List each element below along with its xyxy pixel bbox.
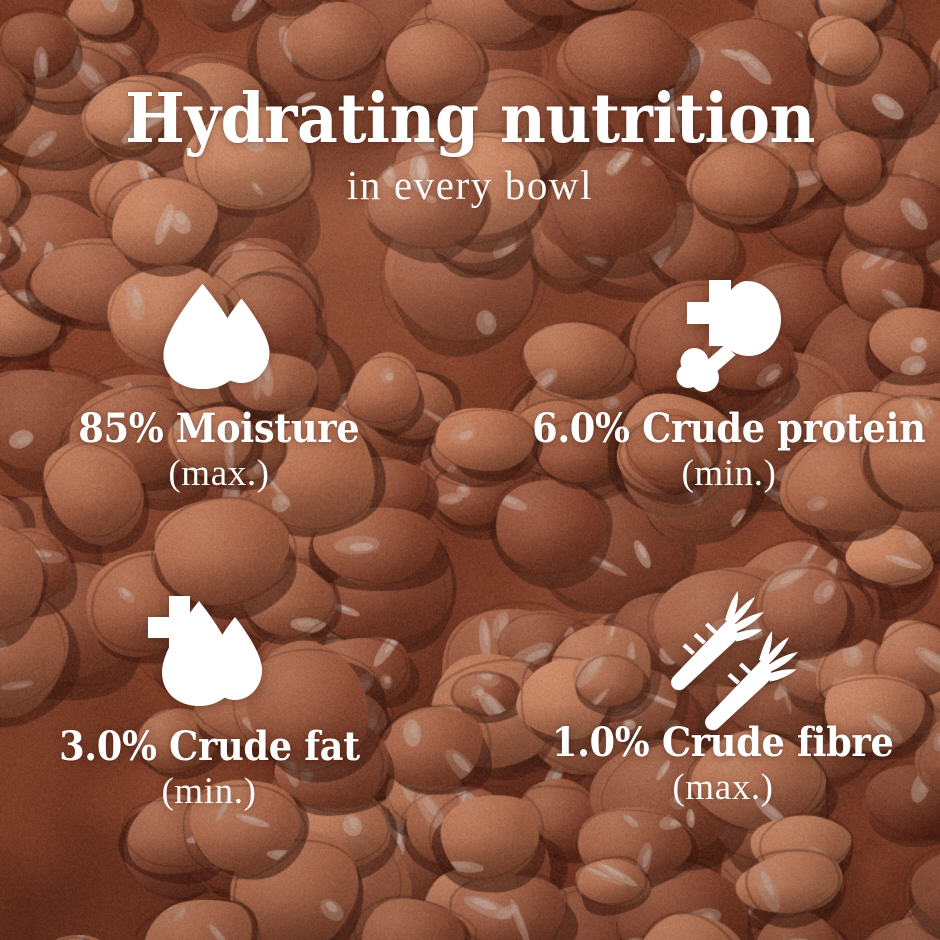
nutrition-infographic: Hydrating nutrition in every bowl [0, 0, 940, 940]
page-subtitle: in every bowl [0, 165, 940, 206]
stat-moisture: 85% Moisture (max.) [0, 270, 454, 570]
stat-qualifier-moisture: (max.) [168, 454, 269, 495]
stat-qualifier-crude-fibre: (max.) [672, 768, 773, 809]
headline-block: Hydrating nutrition in every bowl [0, 86, 940, 206]
stat-value-crude-protein: 6.0% Crude protein [532, 408, 925, 450]
stat-crude-fibre: 1.0% Crude fibre (max.) [488, 584, 940, 884]
page-title: Hydrating nutrition [33, 86, 907, 153]
water-drops-icon [161, 274, 277, 394]
stat-value-crude-fibre: 1.0% Crude fibre [552, 722, 894, 764]
infographic-content: Hydrating nutrition in every bowl [0, 0, 940, 940]
water-drops-plus-icon [147, 592, 271, 712]
drumstick-plus-icon [673, 274, 785, 394]
stat-value-moisture: 85% Moisture [78, 408, 359, 450]
stat-value-crude-fat: 3.0% Crude fat [59, 726, 360, 768]
stat-crude-protein: 6.0% Crude protein (min.) [494, 270, 940, 570]
nutrition-stats-grid: 85% Moisture (max.) [0, 270, 940, 870]
carrots-icon [659, 588, 787, 708]
stat-qualifier-crude-protein: (min.) [681, 454, 776, 495]
stat-qualifier-crude-fat: (min.) [161, 772, 256, 813]
stat-crude-fat: 3.0% Crude fat (min.) [0, 588, 444, 888]
